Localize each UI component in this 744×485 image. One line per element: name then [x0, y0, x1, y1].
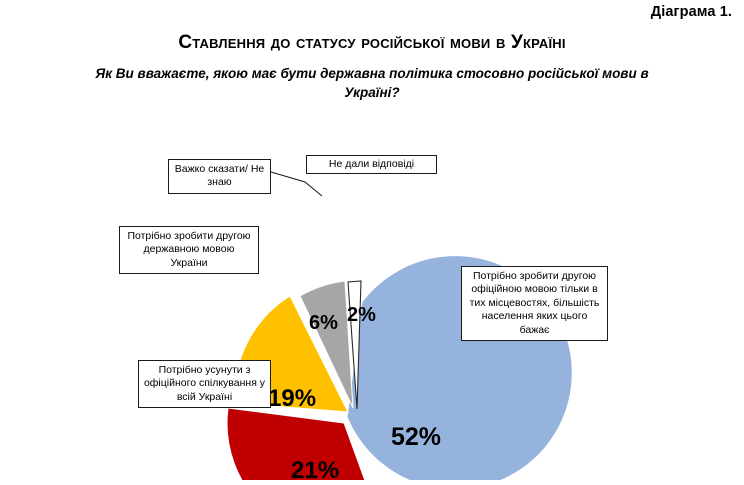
leader-line-gray: [271, 172, 322, 196]
callout-yellow[interactable]: Потрібно зробити другою державною мовою …: [119, 226, 259, 274]
slice-value-gray: 6%: [309, 312, 338, 335]
callout-gray[interactable]: Важко сказати/ Не знаю: [168, 159, 271, 194]
slice-value-yellow: 19%: [268, 385, 316, 413]
chart-page: Діаграма 1. Ставлення до статусу російсь…: [0, 0, 744, 480]
slice-value-na: 2%: [347, 304, 376, 327]
page-title: Ставлення до статусу російської мови в У…: [0, 32, 744, 54]
figure-number: Діаграма 1.: [651, 4, 732, 20]
slice-value-red: 21%: [291, 457, 339, 485]
page-subtitle: Як Ви вважаєте, якою має бути державна п…: [92, 64, 652, 102]
slice-value-blue: 52%: [391, 423, 441, 452]
callout-red[interactable]: Потрібно усунути з офіційного спілкуванн…: [138, 360, 271, 408]
callout-blue[interactable]: Потрібно зробити другою офіційною мовою …: [461, 266, 608, 341]
callout-na[interactable]: Не дали відповіді: [306, 155, 437, 174]
